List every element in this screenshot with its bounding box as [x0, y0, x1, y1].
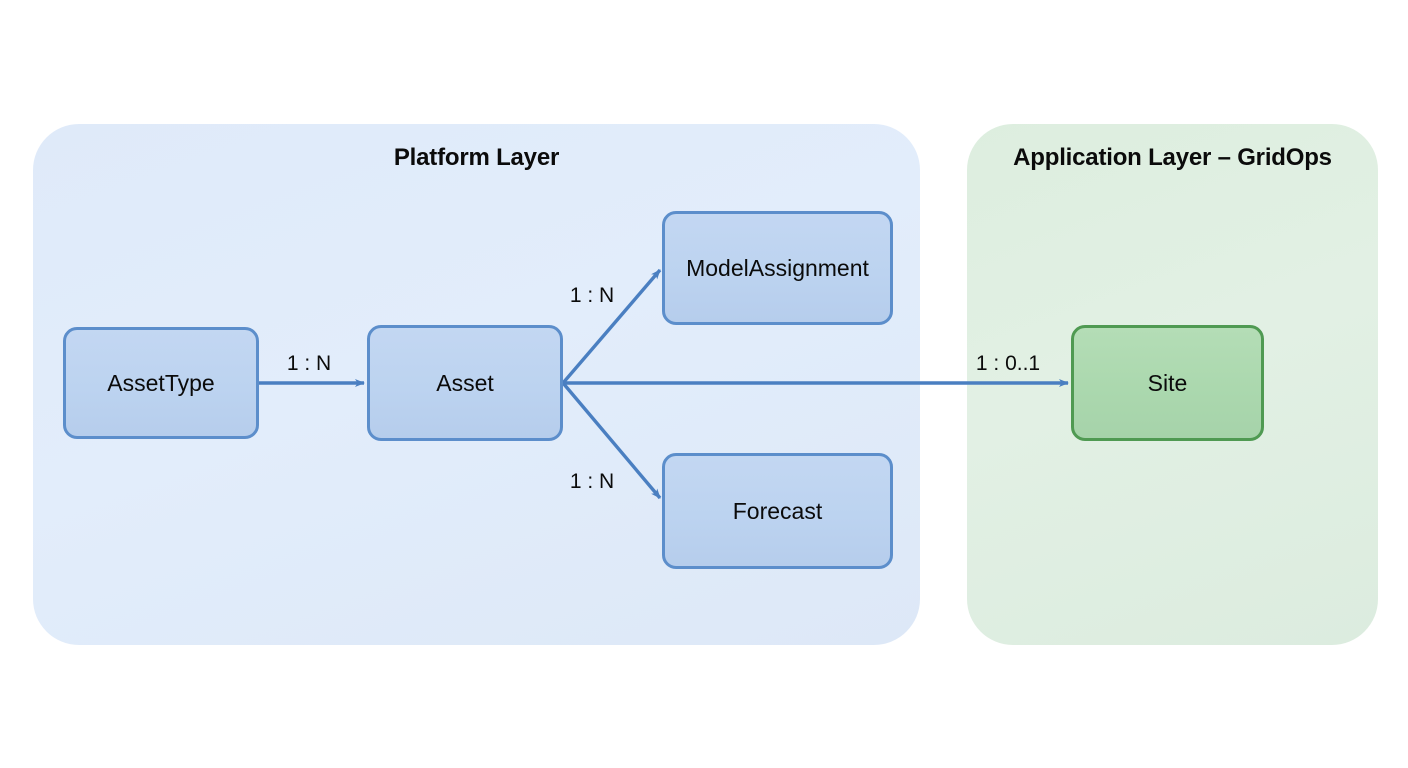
node-site[interactable]: Site	[1071, 325, 1264, 441]
layer-application-title: Application Layer – GridOps	[967, 144, 1378, 172]
diagram-canvas: Platform Layer Application Layer – GridO…	[0, 0, 1408, 768]
node-site-label: Site	[1148, 370, 1188, 397]
node-asset-label: Asset	[436, 370, 494, 397]
edge-label-asset-site: 1 : 0..1	[976, 352, 1040, 376]
edge-label-asset-forecast: 1 : N	[570, 470, 614, 494]
node-assettype[interactable]: AssetType	[63, 327, 259, 439]
layer-platform-title: Platform Layer	[33, 144, 920, 172]
node-forecast[interactable]: Forecast	[662, 453, 893, 569]
edge-label-assettype-asset: 1 : N	[287, 352, 331, 376]
node-modelassignment[interactable]: ModelAssignment	[662, 211, 893, 325]
node-assettype-label: AssetType	[107, 370, 214, 397]
node-asset[interactable]: Asset	[367, 325, 563, 441]
edge-label-asset-modelassignment: 1 : N	[570, 284, 614, 308]
node-forecast-label: Forecast	[733, 498, 822, 525]
node-modelassignment-label: ModelAssignment	[686, 255, 869, 282]
